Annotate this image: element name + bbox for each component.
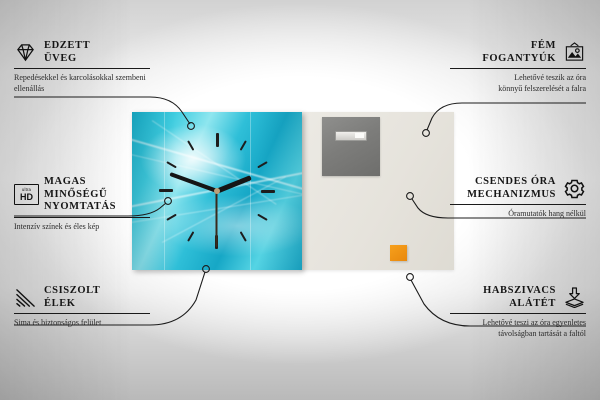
feature-metal-hangers[interactable]: FÉM FOGANTYÚK Lehetővé teszik az óra kön… xyxy=(450,40,586,94)
feature-polished-edges[interactable]: CSISZOLT ÉLEK Sima és biztonságos felüle… xyxy=(14,285,150,329)
clock-tick xyxy=(216,133,218,191)
feature-title: MAGAS MINŐSÉGŰ NYOMTATÁS xyxy=(44,176,150,214)
feature-divider xyxy=(14,313,150,314)
feature-header: CSENDES ÓRA MECHANIZMUS xyxy=(450,176,586,201)
hands-center-cap xyxy=(214,188,220,194)
foam-pad-icon xyxy=(563,287,586,308)
picture-hanger-icon xyxy=(563,42,586,63)
feature-header: CSISZOLT ÉLEK xyxy=(14,285,150,310)
feature-subtitle: Óramutatók hang nélkül xyxy=(450,209,586,220)
gear-icon xyxy=(563,178,586,199)
feature-header: ultra HD MAGAS MINŐSÉGŰ NYOMTATÁS xyxy=(14,176,150,214)
polished-edges-icon xyxy=(14,287,37,308)
diamond-icon xyxy=(14,42,37,63)
infographic-page: EDZETT ÜVEG Repedésekkel és karcolásokka… xyxy=(0,0,600,400)
feature-divider xyxy=(450,204,586,205)
product-photo xyxy=(132,112,454,270)
feature-subtitle: Lehetővé teszik az óra könnyű felszerelé… xyxy=(450,73,586,94)
feature-header: FÉM FOGANTYÚK xyxy=(450,40,586,65)
hanger-slot xyxy=(335,131,367,141)
feature-divider xyxy=(14,217,150,218)
foam-spacer-pad xyxy=(390,245,407,261)
ultra-hd-icon: ultra HD xyxy=(14,184,37,205)
feature-hq-printing[interactable]: ultra HD MAGAS MINŐSÉGŰ NYOMTATÁS Intenz… xyxy=(14,176,150,232)
feature-silent-movement[interactable]: CSENDES ÓRA MECHANIZMUS Óramutatók hang … xyxy=(450,176,586,220)
feature-tempered-glass[interactable]: EDZETT ÜVEG Repedésekkel és karcolásokka… xyxy=(14,40,150,94)
feature-title: FÉM FOGANTYÚK xyxy=(482,40,556,65)
feature-divider xyxy=(450,313,586,314)
feature-title: CSENDES ÓRA MECHANIZMUS xyxy=(467,176,556,201)
feature-title: CSISZOLT ÉLEK xyxy=(44,285,100,310)
feature-foam-pad[interactable]: HABSZIVACS ALÁTÉT Lehetővé teszi az óra … xyxy=(450,285,586,339)
feature-divider xyxy=(450,68,586,69)
feature-subtitle: Repedésekkel és karcolásokkal szembeni e… xyxy=(14,73,150,94)
metal-hanger-plate xyxy=(322,117,380,176)
feature-title: EDZETT ÜVEG xyxy=(44,40,90,65)
feature-header: EDZETT ÜVEG xyxy=(14,40,150,65)
feature-subtitle: Lehetővé teszi az óra egyenletes távolsá… xyxy=(450,318,586,339)
feature-header: HABSZIVACS ALÁTÉT xyxy=(450,285,586,310)
feature-subtitle: Intenzív színek és éles kép xyxy=(14,222,150,233)
feature-subtitle: Sima és biztonságos felület xyxy=(14,318,150,329)
clock-face xyxy=(132,112,302,270)
feature-title: HABSZIVACS ALÁTÉT xyxy=(483,285,556,310)
feature-divider xyxy=(14,68,150,69)
